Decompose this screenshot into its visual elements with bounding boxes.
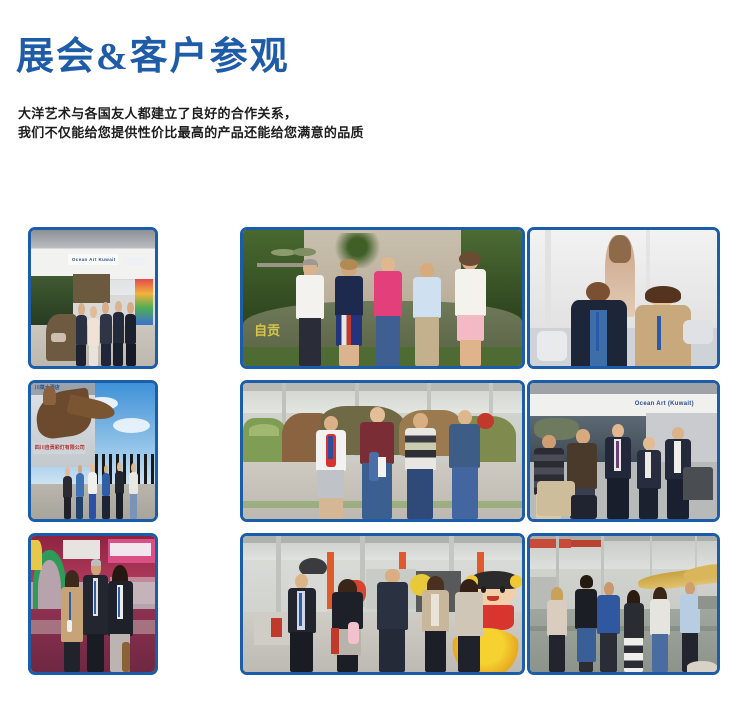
gallery-photo-6[interactable]: Ocean Art (Kuwait) (527, 380, 720, 522)
photo-3-image (530, 230, 717, 366)
gallery-photo-2[interactable]: 自贡 (240, 227, 525, 369)
gallery-photo-5[interactable] (240, 380, 525, 522)
photo-gallery: Ocean Art Kuwait (0, 0, 750, 704)
gallery-photo-1[interactable]: Ocean Art Kuwait (28, 227, 158, 369)
gallery-photo-8[interactable] (240, 533, 525, 675)
photo-2-stone-text: 自贡 (254, 320, 280, 339)
photo-8-image (243, 536, 522, 672)
photo-7-image (31, 536, 155, 672)
gallery-photo-7[interactable] (28, 533, 158, 675)
photo-4-image: 川菜大酒店 四川自贡彩灯有限公司 (31, 383, 155, 519)
photo-6-sign-text: Ocean Art (Kuwait) (635, 401, 694, 407)
photo-2-image: 自贡 (243, 230, 522, 366)
photo-5-image (243, 383, 522, 519)
photo-9-image (530, 536, 717, 672)
photo-1-sign-text: Ocean Art Kuwait (72, 257, 116, 262)
page-root: 展会&客户参观 大洋艺术与各国友人都建立了良好的合作关系， 我们不仅能给您提供性… (0, 0, 750, 704)
photo-1-image: Ocean Art Kuwait (31, 230, 155, 366)
gallery-photo-4[interactable]: 川菜大酒店 四川自贡彩灯有限公司 (28, 380, 158, 522)
gallery-photo-9[interactable] (527, 533, 720, 675)
photo-6-image: Ocean Art (Kuwait) (530, 383, 717, 519)
gallery-photo-3[interactable] (527, 227, 720, 369)
